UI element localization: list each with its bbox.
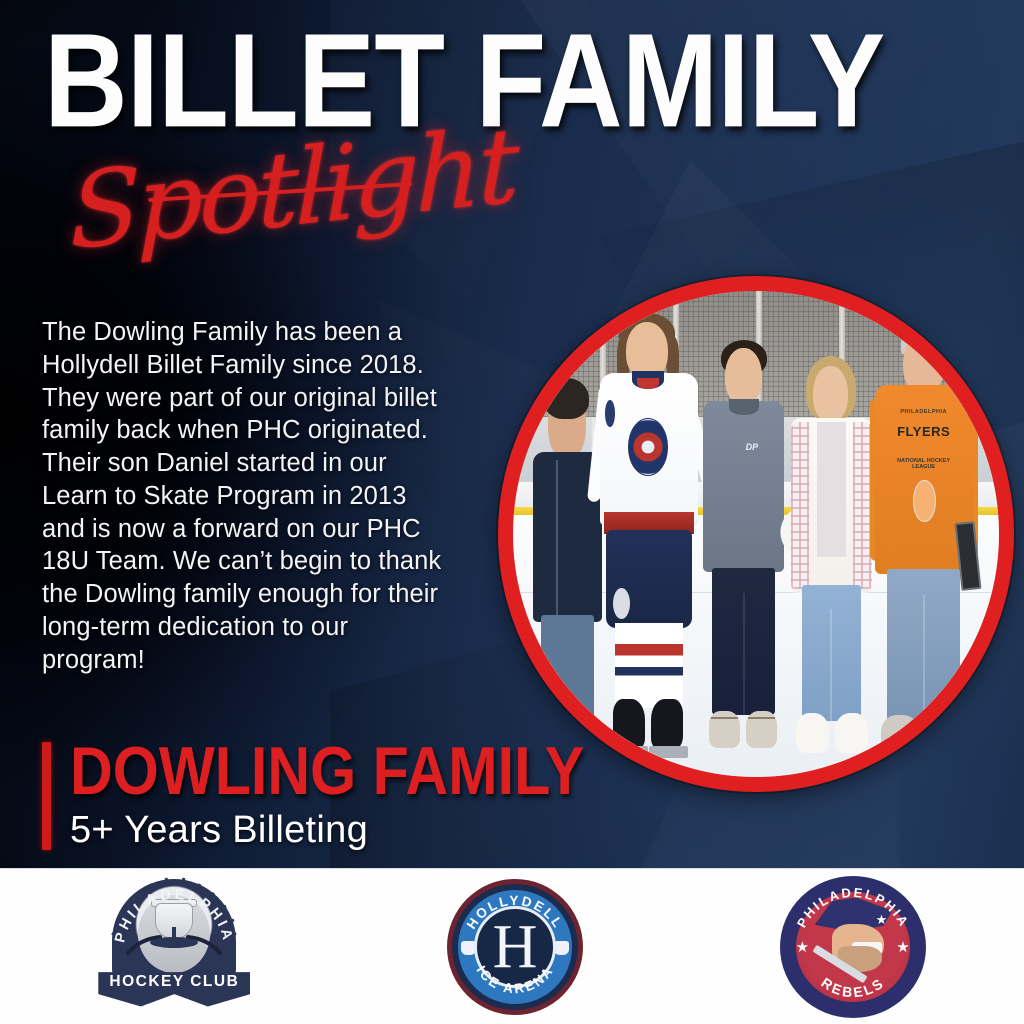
rebels-arc-bottom-label: REBELS <box>818 974 887 1000</box>
pants-logo <box>613 588 630 619</box>
person-father: PHILADELPHIA FLYERS NATIONAL HOCKEY LEAG… <box>873 330 975 758</box>
sandal-strap <box>748 717 776 719</box>
person-mother <box>785 354 877 753</box>
jersey-crest-icon <box>628 418 669 476</box>
hockey-socks <box>615 623 683 708</box>
pullover-collar <box>729 399 759 415</box>
jersey-shoulder-patch <box>605 400 615 427</box>
hair <box>544 378 589 419</box>
tshirt-top-text: PHILADELPHIA <box>893 409 954 415</box>
leg-split <box>923 595 925 723</box>
hollydell-arc-text: HOLLYDELL ICE ARENA <box>447 879 583 1015</box>
leg-split <box>743 593 745 715</box>
family-name: DOWLING FAMILY <box>70 738 584 806</box>
phc-arc-label: PHILADELPHIA <box>113 886 237 944</box>
sandal-strap <box>711 717 739 719</box>
billeting-years: 5+ Years Billeting <box>70 811 368 849</box>
tshirt-bottom-text: NATIONAL HOCKEY LEAGUE <box>893 458 954 470</box>
credit-accent-bar <box>42 742 51 850</box>
person-left-partial <box>523 378 606 747</box>
svg-text:ICE ARENA: ICE ARENA <box>473 962 556 996</box>
sneaker <box>796 713 829 753</box>
pullover-monogram: DP <box>746 442 761 475</box>
ice-skate <box>613 699 645 748</box>
footer-logo-bar: PHILADELPHIA HOCKEY CLUB H HOLLYDELL <box>0 868 1024 1024</box>
hollydell-arc-bottom-label: ICE ARENA <box>473 962 556 996</box>
skate-blade <box>610 746 648 757</box>
inner-top <box>817 422 847 557</box>
skate-blade <box>649 746 687 757</box>
svg-text:HOLLYDELL: HOLLYDELL <box>464 892 567 931</box>
svg-text:PHILADELPHIA: PHILADELPHIA <box>113 886 237 944</box>
jersey-collar-inner <box>637 378 658 390</box>
flyers-logo-icon <box>913 480 935 523</box>
family-photo: DP <box>513 291 999 777</box>
family-photo-circle: DP <box>498 276 1014 792</box>
sneaker <box>835 713 868 753</box>
sneaker <box>881 715 920 758</box>
footer-logo-hollydell-ice-arena[interactable]: H HOLLYDELL ICE ARENA <box>447 879 583 1015</box>
jacket-zipper <box>556 460 558 615</box>
legs <box>541 615 594 741</box>
footer-logo-philadelphia-rebels[interactable]: ★ ★ ★ PHILADELPHIA REBELS <box>780 876 926 1018</box>
rebels-arc-text: PHILADELPHIA REBELS <box>780 876 926 1018</box>
tshirt-brand-text: FLYERS <box>889 424 958 439</box>
leg-split <box>830 609 832 721</box>
rebels-arc-top-label: PHILADELPHIA <box>793 884 911 929</box>
plaid-sleeve <box>791 422 809 589</box>
billet-family-spotlight-poster: BILLET FAMILY Spotlight The Dowling Fami… <box>0 0 1024 1024</box>
svg-text:REBELS: REBELS <box>818 974 887 1000</box>
sneaker <box>926 715 965 758</box>
ice-skate <box>651 699 683 748</box>
phc-banner-label: HOCKEY CLUB <box>98 973 250 991</box>
svg-text:PHILADELPHIA: PHILADELPHIA <box>793 884 911 929</box>
story-paragraph: The Dowling Family has been a Hollydell … <box>42 316 442 676</box>
person-hockey-player <box>596 310 703 757</box>
footer-logo-philadelphia-hockey-club[interactable]: PHILADELPHIA HOCKEY CLUB <box>98 877 250 1017</box>
head <box>813 366 848 422</box>
head <box>725 348 762 405</box>
hollydell-arc-top-label: HOLLYDELL <box>464 892 567 931</box>
